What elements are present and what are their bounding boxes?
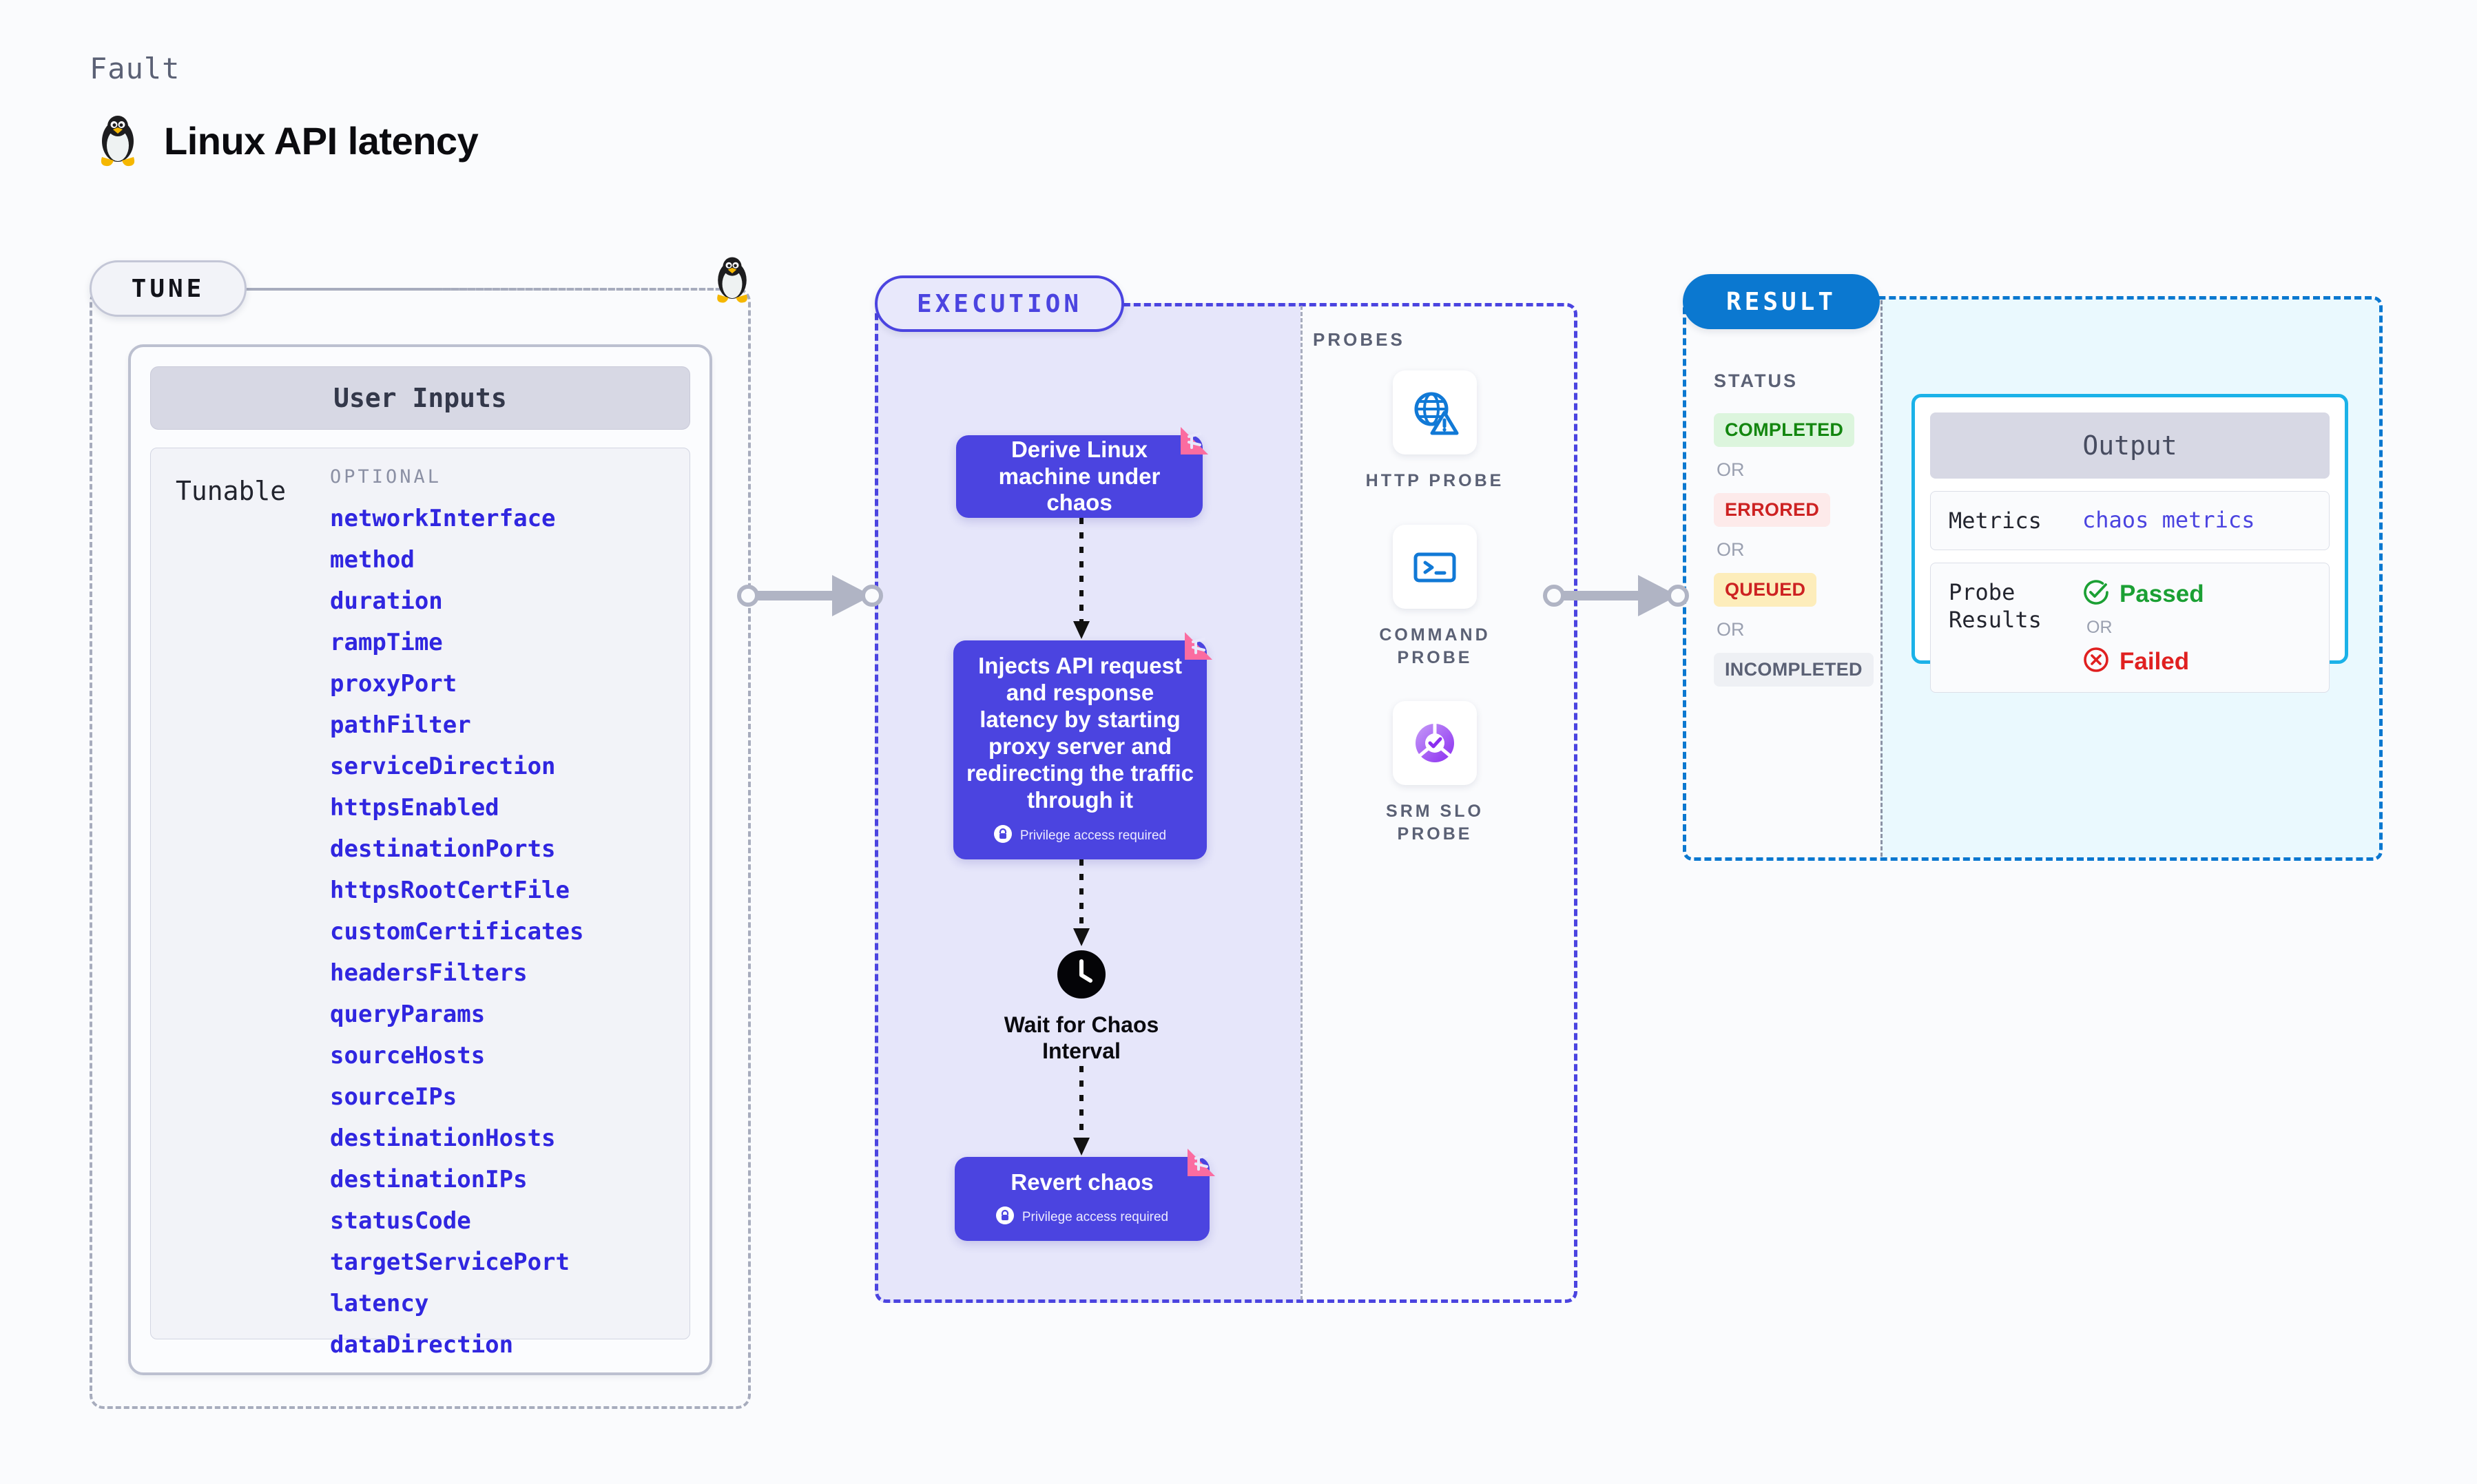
globe-warning-icon xyxy=(1393,370,1477,454)
output-metrics-key: Metrics xyxy=(1949,507,2082,534)
stage-pill-result-label: RESULT xyxy=(1726,288,1836,316)
tunable-param[interactable]: rampTime xyxy=(330,631,676,654)
lock-icon xyxy=(996,1206,1014,1229)
execution-node-revert[interactable]: Revert chaos Privilege access required xyxy=(955,1157,1210,1241)
tunable-param[interactable]: method xyxy=(330,548,676,572)
status-badge: QUEUED xyxy=(1714,573,1816,607)
tunable-param[interactable]: sourceIPs xyxy=(330,1085,676,1109)
output-probe-results-value: Passed OR Failed xyxy=(2082,578,2204,677)
stage-pill-tune[interactable]: TUNE xyxy=(90,260,247,317)
tunable-row-label: Tunable xyxy=(151,466,330,1339)
terminal-icon xyxy=(1393,525,1477,609)
status-section-label: STATUS xyxy=(1714,370,1798,392)
tunable-param[interactable]: queryParams xyxy=(330,1003,676,1026)
tunable-param[interactable]: destinationIPs xyxy=(330,1168,676,1191)
output-row-probe-results: Probe Results Passed OR xyxy=(1930,563,2330,693)
x-circle-icon xyxy=(2082,646,2110,677)
execution-node-derive[interactable]: Derive Linux machine under chaos xyxy=(956,435,1203,518)
stage-pill-execution[interactable]: EXECUTION xyxy=(875,275,1124,332)
tunable-param[interactable]: headersFilters xyxy=(330,961,676,985)
connector-execution-to-result xyxy=(1543,565,1694,627)
tunable-param[interactable]: targetServicePort xyxy=(330,1251,676,1274)
tunable-param[interactable]: destinationPorts xyxy=(330,837,676,861)
linux-penguin-icon xyxy=(96,114,139,167)
status-badge-list: COMPLETED OR ERRORED OR QUEUED OR INCOMP… xyxy=(1714,413,1872,687)
tunable-param[interactable]: networkInterface xyxy=(330,507,676,530)
or-separator: OR xyxy=(2086,618,2204,638)
privilege-notice: Privilege access required xyxy=(994,825,1166,847)
status-badge: INCOMPLETED xyxy=(1714,653,1874,687)
probe-result-passed: Passed xyxy=(2082,578,2204,609)
status-badge: ERRORED xyxy=(1714,493,1830,527)
tunable-param[interactable]: serviceDirection xyxy=(330,755,676,778)
or-separator: OR xyxy=(1717,539,1872,561)
linux-penguin-icon xyxy=(713,255,752,308)
execution-node-wait-label: Wait for Chaos Interval xyxy=(992,1012,1171,1065)
probes-section-label: PROBES xyxy=(1313,329,1405,351)
stage-pill-result[interactable]: RESULT xyxy=(1683,274,1880,329)
output-row-metrics: Metrics chaos metrics xyxy=(1930,491,2330,550)
tunable-param[interactable]: dataDirection xyxy=(330,1333,676,1357)
probe-item-label: COMMAND PROBE xyxy=(1356,624,1514,669)
page-title: Linux API latency xyxy=(164,118,478,163)
privilege-notice-label: Privilege access required xyxy=(1020,828,1166,844)
tune-connector-line xyxy=(248,288,730,291)
output-probe-results-key: Probe Results xyxy=(1949,578,2082,677)
flow-arrow-wait-to-revert xyxy=(1066,1066,1097,1160)
probe-item-command[interactable]: COMMAND PROBE xyxy=(1356,525,1514,669)
probe-item-label: SRM SLO PROBE xyxy=(1356,800,1514,846)
tunable-param[interactable]: customCertificates xyxy=(330,920,676,943)
tunable-param[interactable]: destinationHosts xyxy=(330,1127,676,1150)
privilege-notice: Privilege access required xyxy=(996,1206,1168,1229)
harness-ribbon-icon xyxy=(1177,424,1212,463)
probe-item-srm-slo[interactable]: SRM SLO PROBE xyxy=(1356,701,1514,846)
optional-tag: OPTIONAL xyxy=(330,466,676,488)
result-output-divider xyxy=(1880,300,1883,857)
probe-item-http[interactable]: HTTP PROBE xyxy=(1356,370,1514,492)
probe-item-label: HTTP PROBE xyxy=(1366,470,1504,492)
tunable-param[interactable]: proxyPort xyxy=(330,672,676,696)
fault-eyebrow-label: Fault xyxy=(90,52,180,85)
stage-pill-execution-label: EXECUTION xyxy=(917,290,1082,318)
tunable-param[interactable]: latency xyxy=(330,1292,676,1315)
tunable-section: Tunable OPTIONAL networkInterface method… xyxy=(150,448,690,1339)
probe-result-failed-label: Failed xyxy=(2120,648,2189,676)
flow-arrow-inject-to-wait xyxy=(1066,859,1097,950)
execution-node-wait[interactable]: Wait for Chaos Interval xyxy=(992,950,1171,1065)
probe-result-failed: Failed xyxy=(2082,646,2204,677)
flow-arrow-derive-to-inject xyxy=(1066,518,1097,643)
output-card-header: Output xyxy=(1930,412,2330,479)
tunable-param[interactable]: sourceHosts xyxy=(330,1044,676,1067)
harness-ribbon-icon xyxy=(1181,629,1216,669)
or-separator: OR xyxy=(1717,619,1872,640)
tunable-param[interactable]: pathFilter xyxy=(330,713,676,737)
slo-donut-check-icon xyxy=(1393,701,1477,785)
privilege-notice-label: Privilege access required xyxy=(1022,1210,1168,1225)
lock-icon xyxy=(994,825,1012,847)
probe-result-passed-label: Passed xyxy=(2120,581,2204,608)
execution-node-text: Revert chaos xyxy=(998,1169,1165,1196)
execution-node-text: Derive Linux machine under chaos xyxy=(956,437,1203,517)
tunable-param[interactable]: duration xyxy=(330,589,676,613)
execution-node-inject[interactable]: Injects API request and response latency… xyxy=(953,640,1207,859)
fault-title-row: Linux API latency xyxy=(96,114,478,167)
output-card: Output Metrics chaos metrics Probe Resul… xyxy=(1911,394,2348,664)
tunable-param[interactable]: statusCode xyxy=(330,1209,676,1233)
stage-pill-tune-label: TUNE xyxy=(132,275,205,303)
harness-ribbon-icon xyxy=(1183,1146,1219,1185)
tunable-parameter-list: OPTIONAL networkInterface method duratio… xyxy=(330,466,690,1339)
connector-tune-to-execution xyxy=(737,565,889,627)
execution-probes-divider xyxy=(1300,306,1303,1300)
status-badge: COMPLETED xyxy=(1714,413,1854,447)
or-separator: OR xyxy=(1717,459,1872,481)
check-circle-icon xyxy=(2082,578,2110,609)
tune-card: User Inputs Tunable OPTIONAL networkInte… xyxy=(128,344,712,1375)
tunable-param[interactable]: httpsEnabled xyxy=(330,796,676,819)
output-metrics-value[interactable]: chaos metrics xyxy=(2082,507,2255,534)
tunable-param[interactable]: httpsRootCertFile xyxy=(330,879,676,902)
execution-node-text: Injects API request and response latency… xyxy=(953,653,1207,814)
user-inputs-header: User Inputs xyxy=(150,366,690,430)
clock-icon xyxy=(1057,950,1106,1002)
